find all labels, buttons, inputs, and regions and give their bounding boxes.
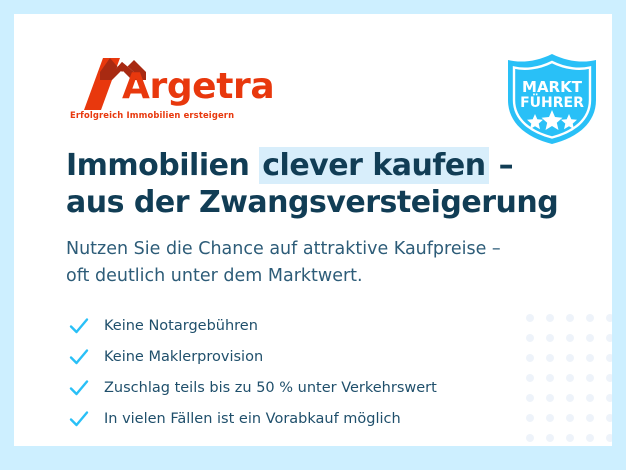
- list-item-label: Keine Maklerprovision: [104, 347, 263, 367]
- dot: [600, 348, 612, 368]
- subtitle-line-1: Nutzen Sie die Chance auf attraktive Kau…: [66, 236, 566, 263]
- headline-line-1: Immobilien clever kaufen –: [66, 147, 536, 184]
- subtitle: Nutzen Sie die Chance auf attraktive Kau…: [66, 236, 566, 290]
- content-card: Argetra Erfolgreich Immobilien ersteiger…: [14, 14, 612, 446]
- badge-line-1: MARKT: [522, 78, 583, 96]
- check-icon: [68, 315, 90, 337]
- subtitle-line-2: oft deutlich unter dem Marktwert.: [66, 263, 566, 290]
- dot: [600, 308, 612, 328]
- dot: [600, 328, 612, 348]
- list-item-label: Zuschlag teils bis zu 50 % unter Verkehr…: [104, 378, 437, 398]
- brand-logo[interactable]: Argetra Erfolgreich Immobilien ersteiger…: [70, 58, 270, 128]
- dot: [580, 368, 600, 388]
- dot: [540, 348, 560, 368]
- dot: [580, 348, 600, 368]
- market-leader-badge: MARKT FÜHRER: [502, 52, 602, 146]
- dot: [560, 408, 580, 428]
- dot: [540, 308, 560, 328]
- list-item-label: Keine Notargebühren: [104, 316, 258, 336]
- check-icon: [68, 408, 90, 430]
- dot: [540, 428, 560, 446]
- dot: [540, 388, 560, 408]
- list-item-label: In vielen Fällen ist ein Vorabkauf mögli…: [104, 409, 401, 429]
- list-item: Zuschlag teils bis zu 50 % unter Verkehr…: [68, 372, 528, 403]
- page-title: Immobilien clever kaufen – aus der Zwang…: [66, 147, 536, 221]
- dot: [560, 368, 580, 388]
- dot: [600, 388, 612, 408]
- dot: [560, 328, 580, 348]
- badge-line-2: FÜHRER: [520, 93, 584, 111]
- dot: [560, 308, 580, 328]
- headline-line-2: aus der Zwangsversteigerung: [66, 184, 536, 221]
- dot: [580, 428, 600, 446]
- logo-tagline: Erfolgreich Immobilien ersteigern: [70, 110, 234, 120]
- check-icon: [68, 377, 90, 399]
- dot: [580, 408, 600, 428]
- dot: [560, 428, 580, 446]
- list-item: Keine Maklerprovision: [68, 341, 528, 372]
- promo-banner: Argetra Erfolgreich Immobilien ersteiger…: [0, 0, 626, 470]
- dot: [580, 308, 600, 328]
- dot: [560, 348, 580, 368]
- dot: [600, 408, 612, 428]
- dot: [600, 368, 612, 388]
- dot: [540, 408, 560, 428]
- headline-highlight: clever kaufen: [259, 147, 488, 184]
- dot: [580, 388, 600, 408]
- dot-grid-decoration: [520, 308, 612, 446]
- dot: [540, 368, 560, 388]
- list-item: In vielen Fällen ist ein Vorabkauf mögli…: [68, 403, 528, 434]
- headline-part-after: –: [489, 148, 513, 183]
- check-icon: [68, 346, 90, 368]
- dot: [540, 328, 560, 348]
- benefit-list: Keine Notargebühren Keine Maklerprovisio…: [68, 310, 528, 434]
- dot: [580, 328, 600, 348]
- logo-wordmark: Argetra: [122, 66, 274, 108]
- list-item: Keine Notargebühren: [68, 310, 528, 341]
- dot: [560, 388, 580, 408]
- headline-part-before: Immobilien: [66, 148, 259, 183]
- dot: [600, 428, 612, 446]
